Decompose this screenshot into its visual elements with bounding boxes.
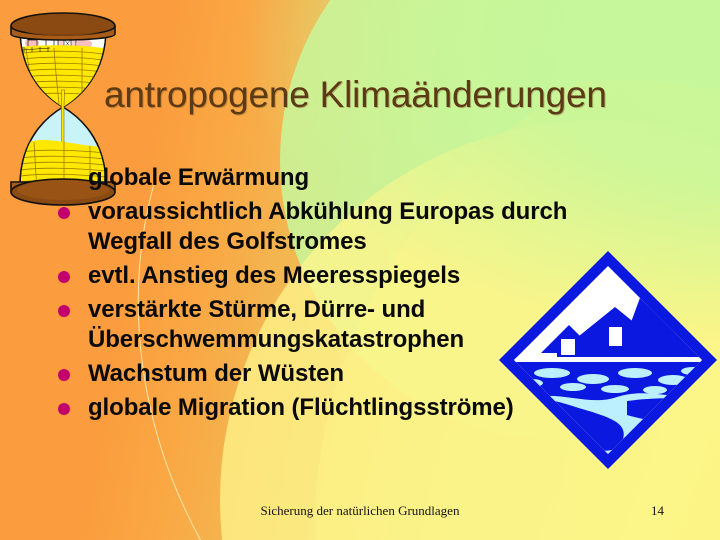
bullet-dot-icon	[58, 305, 70, 317]
bullet-text: globale Erwärmung	[88, 163, 309, 193]
bullet-dot-icon	[58, 207, 70, 219]
bullet-dot-icon	[58, 403, 70, 415]
slide-title: antropogene Klimaänderungen	[104, 74, 700, 116]
bullet-text: evtl. Anstieg des Meeresspiegels	[88, 261, 460, 291]
slide-canvas: antropogene Klimaänderungen globale Erwä…	[0, 0, 720, 540]
bullet-text: globale Migration (Flüchtlingsströme)	[88, 393, 514, 423]
bullet-dot-icon	[58, 369, 70, 381]
list-item: globale Erwärmung	[58, 163, 658, 193]
bullet-text: Wachstum der Wüsten	[88, 359, 344, 389]
bullet-text: voraussichtlich Abkühlung Europas durch …	[88, 197, 658, 257]
bullet-dot-icon	[58, 271, 70, 283]
footer-text: Sicherung der natürlichen Grundlagen	[0, 503, 720, 519]
list-item: voraussichtlich Abkühlung Europas durch …	[58, 197, 658, 257]
flood-warning-diamond-icon	[497, 249, 719, 471]
page-number: 14	[651, 503, 664, 519]
